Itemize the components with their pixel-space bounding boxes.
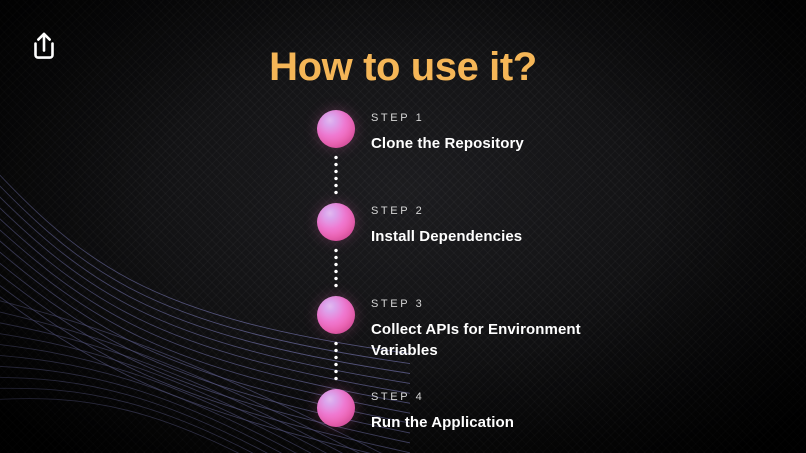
step-connector-dots (334, 154, 338, 197)
step-marker-column (303, 110, 369, 203)
step-title: Run the Application (371, 412, 514, 433)
step-text-block: STEP 1 Clone the Repository (369, 110, 524, 154)
step-label: STEP 4 (371, 392, 514, 403)
step-title: Collect APIs for Environment Variables (371, 319, 601, 361)
list-item: STEP 2 Install Dependencies (303, 203, 723, 296)
step-marker-column (303, 389, 369, 427)
step-text-block: STEP 4 Run the Application (369, 389, 514, 433)
step-sphere-icon (317, 203, 355, 241)
step-text-block: STEP 3 Collect APIs for Environment Vari… (369, 296, 601, 361)
page-title: How to use it? (0, 47, 806, 87)
step-title: Clone the Repository (371, 133, 524, 154)
list-item: STEP 3 Collect APIs for Environment Vari… (303, 296, 723, 389)
slide-canvas: How to use it? STEP 1 Clone the Reposito… (0, 0, 806, 453)
steps-list: STEP 1 Clone the Repository STEP 2 Insta… (303, 110, 723, 433)
step-marker-column (303, 203, 369, 296)
list-item: STEP 1 Clone the Repository (303, 110, 723, 203)
step-title: Install Dependencies (371, 226, 522, 247)
list-item: STEP 4 Run the Application (303, 389, 723, 433)
step-label: STEP 3 (371, 299, 601, 310)
step-marker-column (303, 296, 369, 389)
step-label: STEP 1 (371, 113, 524, 124)
step-connector-dots (334, 340, 338, 383)
step-sphere-icon (317, 389, 355, 427)
step-text-block: STEP 2 Install Dependencies (369, 203, 522, 247)
step-connector-dots (334, 247, 338, 290)
step-sphere-icon (317, 110, 355, 148)
step-label: STEP 2 (371, 206, 522, 217)
step-sphere-icon (317, 296, 355, 334)
